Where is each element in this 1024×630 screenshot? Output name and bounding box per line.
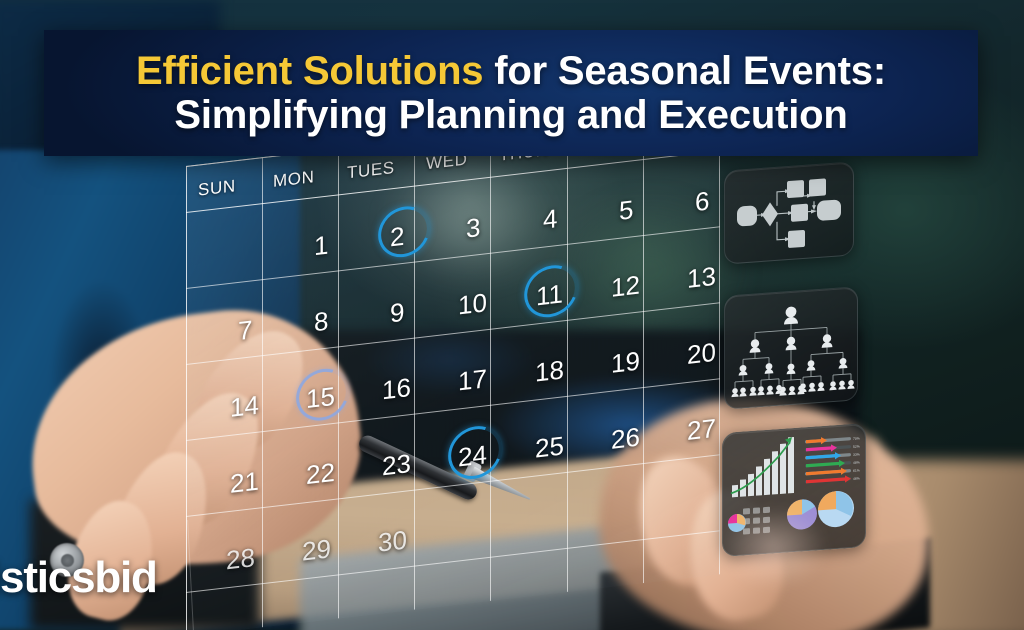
logo-watermark: jisticsbid — [0, 553, 157, 603]
calendar-day-20[interactable]: 20 — [687, 337, 716, 371]
calendar-day-17[interactable]: 17 — [458, 363, 487, 397]
calendar-day-27[interactable]: 27 — [687, 413, 716, 447]
pie-chart-left — [787, 498, 817, 530]
title-banner: Efficient Solutions for Seasonal Events:… — [44, 30, 978, 156]
calendar-grid-line-v — [262, 157, 263, 627]
calendar-day-9[interactable]: 9 — [390, 297, 404, 330]
calendar-day-4[interactable]: 4 — [543, 203, 557, 236]
calendar-day-14[interactable]: 14 — [230, 390, 259, 424]
svg-text:70%: 70% — [853, 436, 860, 440]
calendar-day-12[interactable]: 12 — [611, 269, 640, 303]
calendar-day-29[interactable]: 29 — [302, 533, 331, 567]
calendar-day-11[interactable]: 11 — [536, 278, 563, 312]
calendar-day-25[interactable]: 25 — [535, 430, 564, 464]
title-line-1: Efficient Solutions for Seasonal Events: — [136, 50, 886, 92]
calendar-day-22[interactable]: 22 — [306, 457, 335, 491]
title-line-2: Simplifying Planning and Execution — [174, 94, 847, 136]
calendar-day-23[interactable]: 23 — [382, 448, 411, 482]
svg-text:33%: 33% — [853, 452, 860, 456]
calendar-day-28[interactable]: 28 — [226, 542, 255, 576]
calendar-grid-line-v — [338, 148, 339, 618]
flowchart-panel[interactable] — [724, 161, 854, 264]
svg-text:48%: 48% — [853, 460, 860, 464]
pie-chart-right — [818, 490, 854, 529]
calendar-day-10[interactable]: 10 — [458, 287, 487, 321]
calendar-day-21[interactable]: 21 — [230, 466, 259, 500]
org-chart-panel[interactable] — [724, 286, 858, 409]
calendar-day-6[interactable]: 6 — [695, 185, 709, 218]
calendar-grid-line-v — [643, 113, 644, 583]
calendar-day-18[interactable]: 18 — [535, 354, 564, 388]
calendar-day-3[interactable]: 3 — [466, 212, 480, 245]
analytics-dashboard-icon: 70%52% 33%48% 61%46% — [723, 424, 865, 556]
calendar-grid-line-v — [490, 131, 491, 601]
svg-text:52%: 52% — [853, 444, 860, 448]
calendar-overlay: SUN MON TUES WED THUR FRI SAT 1 2 3 4 5 … — [186, 104, 720, 630]
title-rest-text: for Seasonal Events: — [483, 49, 886, 93]
calendar-day-19[interactable]: 19 — [611, 345, 640, 379]
calendar-grid-line-v — [567, 122, 568, 592]
org-chart-icon — [725, 287, 857, 408]
calendar-grid-line-v — [414, 140, 415, 610]
calendar-day-5[interactable]: 5 — [619, 194, 633, 227]
calendar-day-16[interactable]: 16 — [382, 372, 411, 406]
calendar-day-15[interactable]: 15 — [306, 381, 335, 415]
calendar-day-30[interactable]: 30 — [378, 524, 407, 558]
svg-text:46%: 46% — [853, 476, 860, 480]
calendar-day-2[interactable]: 2 — [390, 221, 404, 254]
calendar-grid-line-v — [719, 104, 720, 574]
calendar-day-8[interactable]: 8 — [314, 306, 328, 339]
calendar-day-7[interactable]: 7 — [238, 314, 252, 347]
dashboard-panel[interactable]: 70%52% 33%48% 61%46% — [722, 423, 866, 557]
calendar-day-13[interactable]: 13 — [687, 261, 716, 295]
arrow-bars: 70%52% 33%48% 61%46% — [805, 434, 860, 485]
promotional-banner-image: SUN MON TUES WED THUR FRI SAT 1 2 3 4 5 … — [0, 0, 1024, 630]
flowchart-icon — [725, 163, 853, 264]
calendar-day-26[interactable]: 26 — [611, 421, 640, 455]
calendar-day-24[interactable]: 24 — [458, 439, 487, 473]
calendar-grid-line-v — [186, 166, 187, 630]
title-accent-text: Efficient Solutions — [136, 49, 483, 93]
calendar-day-1[interactable]: 1 — [314, 230, 328, 263]
svg-text:61%: 61% — [853, 468, 860, 472]
